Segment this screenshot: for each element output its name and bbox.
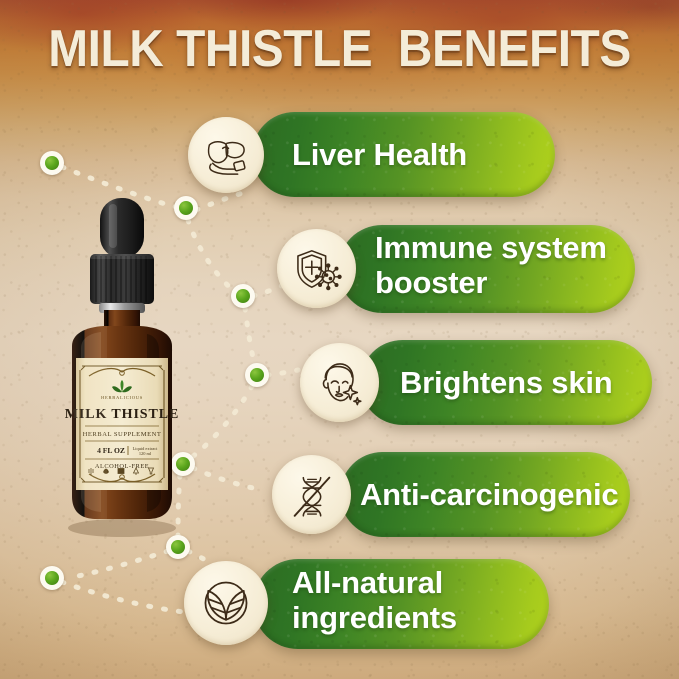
face-sparkle-icon xyxy=(300,343,379,422)
page-title: MILK THISTLE BENEFITS xyxy=(27,22,652,76)
path-node-3 xyxy=(231,284,255,308)
product-brand: HERBALICIOUS xyxy=(101,395,143,400)
path-node-4 xyxy=(245,363,269,387)
path-node-7 xyxy=(40,566,64,590)
benefit-label-1: Liver Health xyxy=(292,138,542,173)
product-volume-metric-2: 120 ml xyxy=(139,451,152,456)
benefit-label-2: Immune system booster xyxy=(375,231,630,300)
dna-crossed-out-icon xyxy=(272,455,351,534)
product-bottle: HERBALICIOUS MILK THISTLE HERBAL SUPPLEM… xyxy=(55,196,190,541)
benefit-label-5: All-natural ingredients xyxy=(292,566,542,635)
infographic-canvas: MILK THISTLE BENEFITS xyxy=(0,0,679,679)
benefit-label-3: Brightens skin xyxy=(400,366,650,401)
two-leaves-icon xyxy=(184,561,268,645)
benefit-label-4: Anti-carcinogenic xyxy=(360,478,630,513)
liver-in-hand-icon xyxy=(188,117,264,193)
shield-virus-icon xyxy=(277,229,356,308)
path-node-1 xyxy=(40,151,64,175)
